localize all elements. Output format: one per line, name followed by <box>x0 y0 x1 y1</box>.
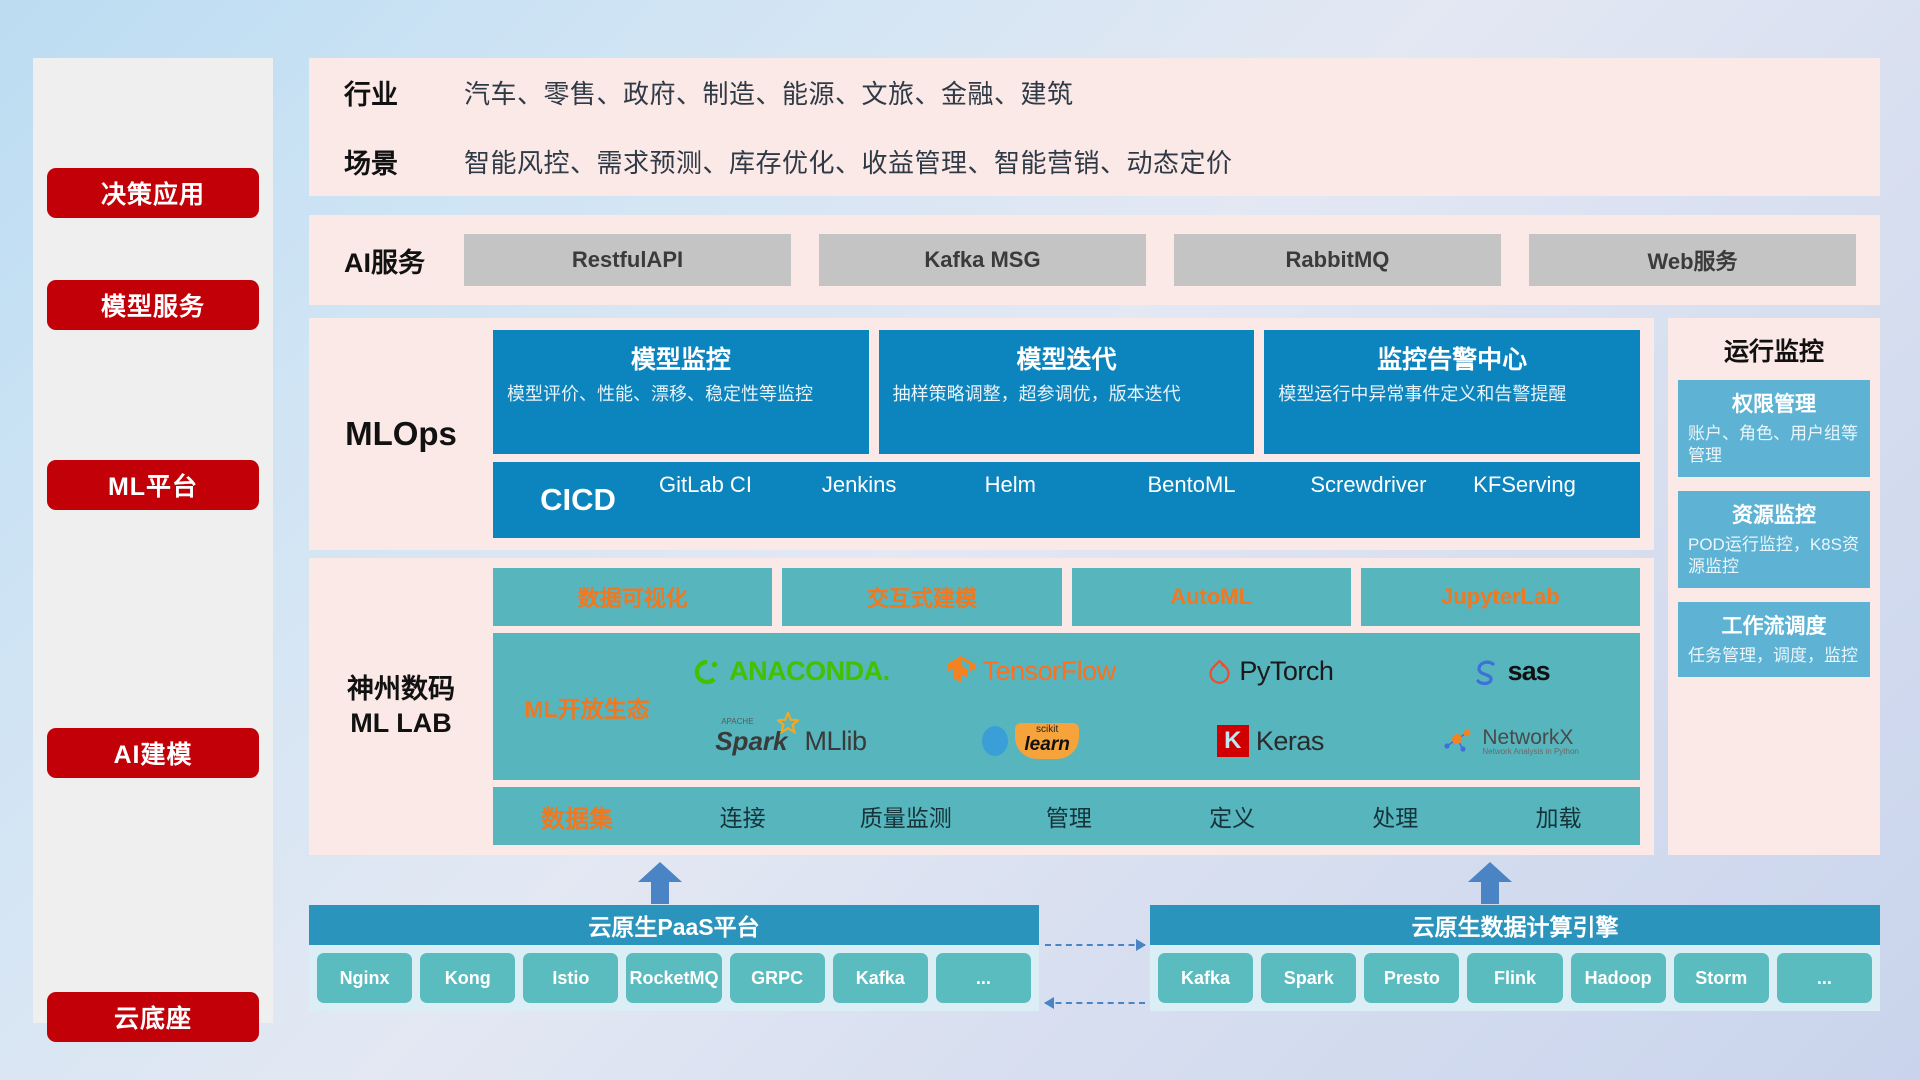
spark-mark: APACHE Spark <box>715 726 787 757</box>
cicd-item-3[interactable]: BentoML <box>1141 472 1304 528</box>
cloud-chip-engine-0[interactable]: Kafka <box>1158 953 1253 1003</box>
tensorflow-label: TensorFlow <box>983 656 1116 687</box>
anaconda-label: ANACONDA. <box>729 656 890 687</box>
mlops-card-2[interactable]: 监控告警中心模型运行中异常事件定义和告警提醒 <box>1264 330 1640 454</box>
ops-monitor-card-0[interactable]: 权限管理账户、角色、用户组等管理 <box>1678 380 1870 477</box>
up-arrow-data-engine-icon <box>1468 862 1512 904</box>
ml-lab-tool-3[interactable]: JupyterLab <box>1361 568 1640 626</box>
networkx-sub-label: Network Analysis in Python <box>1482 748 1579 756</box>
mlops-card-desc: 模型运行中异常事件定义和告警提醒 <box>1278 382 1626 406</box>
rail-chip-1[interactable]: 模型服务 <box>47 280 259 330</box>
mlops-label: MLOps <box>309 415 493 453</box>
industry-row: 行业 汽车、零售、政府、制造、能源、文旅、金融、建筑 <box>309 58 1880 127</box>
networkx-label: NetworkX <box>1482 726 1573 749</box>
cicd-item-0[interactable]: GitLab CI <box>653 472 816 528</box>
cloud-chip-paas-3[interactable]: RocketMQ <box>626 953 721 1003</box>
ml-open-ecosystem: ML开放生态 ANACONDA. TensorFlow <box>493 633 1640 780</box>
rail-chip-4[interactable]: 云底座 <box>47 992 259 1042</box>
cloud-chip-engine-6[interactable]: ... <box>1777 953 1872 1003</box>
rail-chip-2[interactable]: ML平台 <box>47 460 259 510</box>
scikit-blue-blob-icon <box>982 726 1008 756</box>
dataset-item-5[interactable]: 加载 <box>1477 799 1640 833</box>
ops-monitor-panel: 运行监控 权限管理账户、角色、用户组等管理资源监控POD运行监控，K8S资源监控… <box>1668 318 1880 855</box>
ops-card-desc: 账户、角色、用户组等管理 <box>1688 423 1860 467</box>
ops-card-title: 工作流调度 <box>1688 610 1860 640</box>
decision-application-band: 行业 汽车、零售、政府、制造、能源、文旅、金融、建筑 场景 智能风控、需求预测、… <box>309 58 1880 196</box>
dataset-item-1[interactable]: 质量监测 <box>824 799 987 833</box>
sas-logo: sas <box>1471 656 1550 687</box>
mllib-label: MLlib <box>804 726 866 757</box>
cloud-native-paas-title: 云原生PaaS平台 <box>309 905 1039 945</box>
mlops-band: MLOps 模型监控模型评价、性能、漂移、稳定性等监控模型迭代抽样策略调整，超参… <box>309 318 1654 550</box>
mlops-card-title: 模型迭代 <box>893 340 1241 376</box>
keras-k-icon: K <box>1217 725 1249 757</box>
ml-lab-label: 神州数码 ML LAB <box>309 673 493 741</box>
spark-star-icon <box>777 712 799 734</box>
ml-lab-label-cn: 神州数码 <box>309 673 493 707</box>
cicd-label: CICD <box>503 482 653 518</box>
sas-label: sas <box>1508 656 1550 687</box>
pytorch-icon <box>1207 657 1232 687</box>
scenario-value: 智能风控、需求预测、库存优化、收益管理、智能营销、动态定价 <box>464 143 1233 180</box>
cloud-native-paas-group: 云原生PaaS平台 NginxKongIstioRocketMQGRPCKafk… <box>309 905 1039 1011</box>
ml-lab-tool-list: 数据可视化交互式建模AutoMLJupyterLab <box>493 568 1640 626</box>
tensorflow-icon <box>946 656 976 688</box>
cloud-chip-paas-6[interactable]: ... <box>936 953 1031 1003</box>
ai-service-cell-2[interactable]: RabbitMQ <box>1174 234 1501 286</box>
ai-service-cell-0[interactable]: RestfulAPI <box>464 234 791 286</box>
dataset-label: 数据集 <box>493 799 661 834</box>
ops-monitor-card-list: 权限管理账户、角色、用户组等管理资源监控POD运行监控，K8S资源监控工作流调度… <box>1678 380 1870 677</box>
scikit-learn-logo: scikit learn <box>982 723 1078 759</box>
dataset-bar: 数据集 连接质量监测管理定义处理加载 <box>493 787 1640 845</box>
industry-value: 汽车、零售、政府、制造、能源、文旅、金融、建筑 <box>464 74 1074 111</box>
cicd-item-5[interactable]: KFServing <box>1467 472 1630 528</box>
ops-card-desc: 任务管理，调度，监控 <box>1688 645 1860 667</box>
keras-label: Keras <box>1256 726 1324 757</box>
scikit-learn-label: learn <box>1024 735 1069 755</box>
cloud-chip-paas-5[interactable]: Kafka <box>833 953 928 1003</box>
sas-icon <box>1471 657 1501 687</box>
ml-lab-band: 神州数码 ML LAB 数据可视化交互式建模AutoMLJupyterLab M… <box>309 558 1654 855</box>
ops-card-desc: POD运行监控，K8S资源监控 <box>1688 534 1860 578</box>
cicd-item-1[interactable]: Jenkins <box>816 472 979 528</box>
mlops-card-desc: 抽样策略调整，超参调优，版本迭代 <box>893 382 1241 406</box>
dataset-item-2[interactable]: 管理 <box>987 799 1150 833</box>
ai-service-cells: RestfulAPIKafka MSGRabbitMQWeb服务 <box>464 234 1856 286</box>
mlops-card-1[interactable]: 模型迭代抽样策略调整，超参调优，版本迭代 <box>879 330 1255 454</box>
mlops-card-0[interactable]: 模型监控模型评价、性能、漂移、稳定性等监控 <box>493 330 869 454</box>
cicd-item-4[interactable]: Screwdriver <box>1304 472 1467 528</box>
ai-service-cell-3[interactable]: Web服务 <box>1529 234 1856 286</box>
tensorflow-logo: TensorFlow <box>946 656 1116 688</box>
spark-mllib-logo: APACHE Spark MLlib <box>715 726 866 757</box>
ops-card-title: 资源监控 <box>1688 499 1860 529</box>
dataset-item-4[interactable]: 处理 <box>1314 799 1477 833</box>
cloud-chip-engine-4[interactable]: Hadoop <box>1571 953 1666 1003</box>
ml-lab-tool-1[interactable]: 交互式建模 <box>782 568 1061 626</box>
cloud-native-data-engine-chip-list: KafkaSparkPrestoFlinkHadoopStorm... <box>1150 945 1880 1011</box>
ml-lab-tool-0[interactable]: 数据可视化 <box>493 568 772 626</box>
cloud-chip-paas-0[interactable]: Nginx <box>317 953 412 1003</box>
ml-lab-label-en: ML LAB <box>309 707 493 741</box>
ml-open-ecosystem-label: ML开放生态 <box>503 690 671 724</box>
apache-label: APACHE <box>721 717 753 726</box>
cloud-native-paas-chip-list: NginxKongIstioRocketMQGRPCKafka... <box>309 945 1039 1011</box>
cloud-chip-paas-4[interactable]: GRPC <box>730 953 825 1003</box>
ops-card-title: 权限管理 <box>1688 388 1860 418</box>
up-arrow-paas-icon <box>638 862 682 904</box>
cloud-chip-engine-1[interactable]: Spark <box>1261 953 1356 1003</box>
dashed-arrow-left-icon <box>1045 1002 1145 1004</box>
industry-label: 行业 <box>344 73 464 112</box>
pytorch-logo: PyTorch <box>1207 656 1333 687</box>
cloud-chip-engine-3[interactable]: Flink <box>1467 953 1562 1003</box>
scikit-orange-blob-icon: scikit learn <box>1015 723 1078 759</box>
cloud-chip-paas-1[interactable]: Kong <box>420 953 515 1003</box>
pytorch-label: PyTorch <box>1239 656 1333 687</box>
networkx-text: NetworkX Network Analysis in Python <box>1482 727 1579 756</box>
mlops-card-list: 模型监控模型评价、性能、漂移、稳定性等监控模型迭代抽样策略调整，超参调优，版本迭… <box>493 330 1640 454</box>
anaconda-logo: ANACONDA. <box>692 656 890 687</box>
ecosystem-logo-grid: ANACONDA. TensorFlow PyTorch <box>671 637 1630 776</box>
dataset-item-0[interactable]: 连接 <box>661 799 824 833</box>
ai-service-band: AI服务 RestfulAPIKafka MSGRabbitMQWeb服务 <box>309 215 1880 305</box>
mlops-card-title: 模型监控 <box>507 340 855 376</box>
cloud-chip-engine-2[interactable]: Presto <box>1364 953 1459 1003</box>
networkx-logo: NetworkX Network Analysis in Python <box>1441 726 1579 756</box>
rail-chip-0[interactable]: 决策应用 <box>47 168 259 218</box>
rail-chip-3[interactable]: AI建模 <box>47 728 259 778</box>
scenario-label: 场景 <box>344 142 464 181</box>
cloud-native-data-engine-group: 云原生数据计算引擎 KafkaSparkPrestoFlinkHadoopSto… <box>1150 905 1880 1011</box>
cloud-chip-engine-5[interactable]: Storm <box>1674 953 1769 1003</box>
keras-logo: K Keras <box>1217 725 1324 757</box>
ops-monitor-title: 运行监控 <box>1678 332 1870 368</box>
mlops-card-title: 监控告警中心 <box>1278 340 1626 376</box>
ops-monitor-card-2[interactable]: 工作流调度任务管理，调度，监控 <box>1678 602 1870 677</box>
cicd-item-list: GitLab CIJenkinsHelmBentoMLScrewdriverKF… <box>653 472 1630 528</box>
dataset-item-3[interactable]: 定义 <box>1151 799 1314 833</box>
mlops-card-desc: 模型评价、性能、漂移、稳定性等监控 <box>507 382 855 406</box>
cicd-bar: CICD GitLab CIJenkinsHelmBentoMLScrewdri… <box>493 462 1640 538</box>
scenario-row: 场景 智能风控、需求预测、库存优化、收益管理、智能营销、动态定价 <box>309 127 1880 196</box>
ops-monitor-card-1[interactable]: 资源监控POD运行监控，K8S资源监控 <box>1678 491 1870 588</box>
ml-lab-tool-2[interactable]: AutoML <box>1072 568 1351 626</box>
dataset-item-list: 连接质量监测管理定义处理加载 <box>661 799 1640 833</box>
anaconda-icon <box>692 657 722 687</box>
ai-service-cell-1[interactable]: Kafka MSG <box>819 234 1146 286</box>
dashed-arrow-right-icon <box>1045 944 1145 946</box>
ai-service-label: AI服务 <box>344 241 464 280</box>
cicd-item-2[interactable]: Helm <box>979 472 1142 528</box>
networkx-icon <box>1441 726 1475 756</box>
left-rail: 决策应用模型服务ML平台AI建模云底座 <box>33 58 273 1023</box>
cloud-chip-paas-2[interactable]: Istio <box>523 953 618 1003</box>
cloud-native-data-engine-title: 云原生数据计算引擎 <box>1150 905 1880 945</box>
